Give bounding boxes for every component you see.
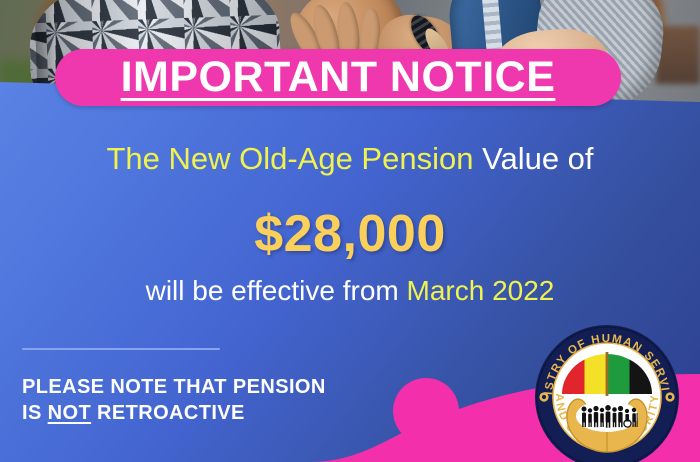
retroactive-note: PLEASE NOTE THAT PENSION IS NOT RETROACT… — [22, 374, 412, 427]
ministry-logo: MINISTRY OF HUMAN SERVICES AND SOCIAL SE… — [532, 322, 682, 462]
umbrella-panel-green — [607, 354, 630, 394]
pension-amount: $28,000 — [0, 204, 700, 264]
effective-date-highlight: March 2022 — [407, 275, 555, 306]
retroactive-note-line1: PLEASE NOTE THAT PENSION — [22, 376, 326, 398]
effective-date-prefix: will be effective from — [146, 275, 407, 306]
important-notice-label: IMPORTANT NOTICE — [121, 56, 556, 99]
pension-headline: The New Old-Age Pension Value of — [0, 141, 700, 177]
umbrella-panel-yellow — [585, 354, 608, 394]
ministry-logo-svg: MINISTRY OF HUMAN SERVICES AND SOCIAL SE… — [532, 322, 682, 462]
retroactive-note-prefix: IS — [22, 402, 48, 424]
retroactive-note-emphasis: NOT — [48, 402, 91, 424]
section-divider — [22, 348, 220, 350]
pension-headline-highlight: The New Old-Age Pension — [106, 141, 473, 176]
effective-date-line: will be effective from March 2022 — [0, 275, 700, 307]
umbrella-pole — [606, 352, 609, 396]
retroactive-note-suffix: RETROACTIVE — [91, 402, 245, 424]
notice-poster: IMPORTANT NOTICE The New Old-Age Pension… — [0, 0, 700, 462]
important-notice-badge: IMPORTANT NOTICE — [55, 49, 621, 106]
pension-headline-rest: Value of — [473, 141, 593, 176]
logo-dot-left-core — [542, 395, 546, 399]
logo-dot-right-core — [668, 395, 672, 399]
